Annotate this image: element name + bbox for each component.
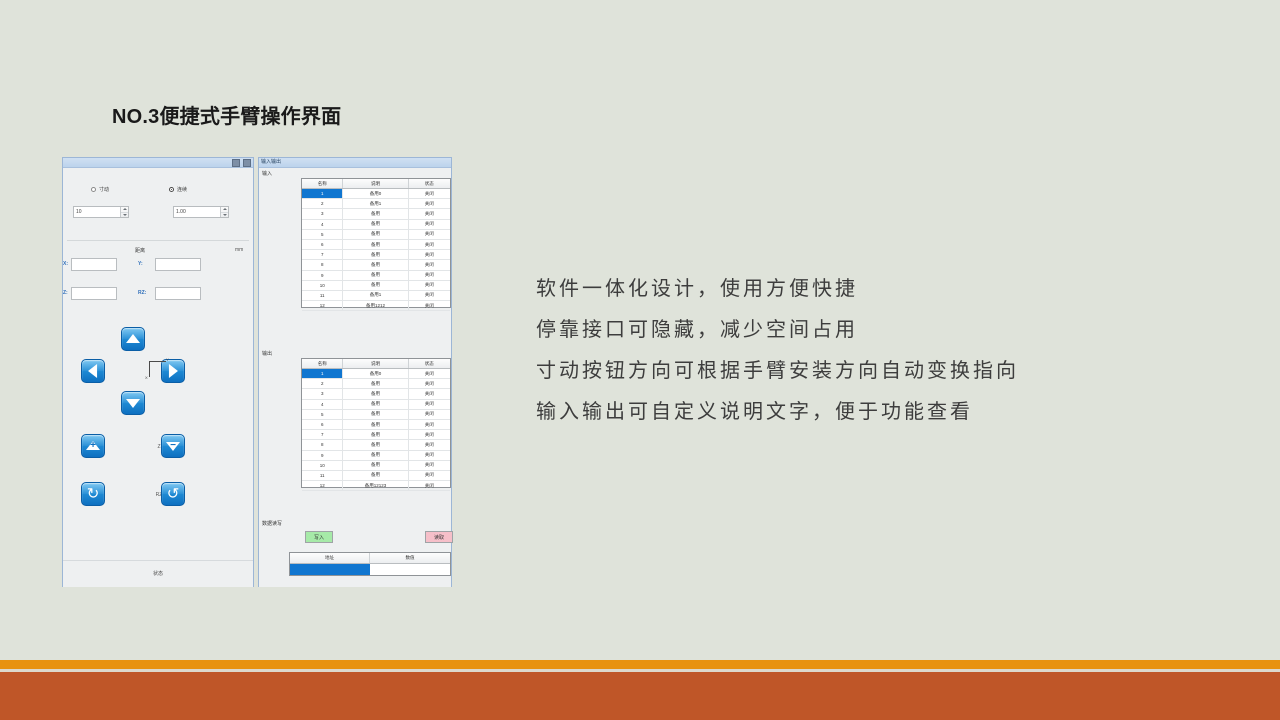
coord-input-rz[interactable] xyxy=(155,287,201,300)
table-cell: 7 xyxy=(302,250,343,259)
column-header: 说明 xyxy=(343,179,408,188)
table-row[interactable]: 7备用关闭 xyxy=(302,430,450,440)
table-cell: 关闭 xyxy=(409,189,450,198)
table-cell: 关闭 xyxy=(409,230,450,239)
io-panel-title: 输入输出 xyxy=(259,158,451,168)
table-cell: 备用 xyxy=(343,400,408,409)
table-cell: 9 xyxy=(302,271,343,280)
table-row[interactable]: 9备用关闭 xyxy=(302,271,450,281)
jog-rz-cw-button[interactable]: ↺ xyxy=(161,482,185,506)
table-cell: 备用 xyxy=(343,220,408,229)
table-cell: 关闭 xyxy=(409,430,450,439)
data-cell-value[interactable] xyxy=(370,564,450,575)
rotate-cw-icon: ↺ xyxy=(167,487,180,502)
app-screenshot: 寸动 连续 10 距离 1.00 xyxy=(62,157,452,587)
distance-label: 距离 xyxy=(135,247,145,254)
jog-z-up-button[interactable]: + xyxy=(81,434,105,458)
jog-left-button[interactable] xyxy=(81,359,105,383)
table-cell: 关闭 xyxy=(409,260,450,269)
description-line: 软件一体化设计，使用方便快捷 xyxy=(536,268,1019,309)
table-row[interactable]: 2备用关闭 xyxy=(302,379,450,389)
description-line: 输入输出可自定义说明文字，便于功能查看 xyxy=(536,391,1019,432)
coord-input-x[interactable] xyxy=(71,258,117,271)
table-cell: 关闭 xyxy=(409,301,450,310)
table-cell: 关闭 xyxy=(409,271,450,280)
jog-up-button[interactable] xyxy=(121,327,145,351)
plus-icon: + xyxy=(90,441,96,451)
input-table[interactable]: 名称说明状态1备用0关闭2备用1关闭3备用关闭4备用关闭5备用关闭6备用关闭7备… xyxy=(301,178,451,308)
table-row[interactable]: 7备用关闭 xyxy=(302,250,450,260)
table-cell: 2 xyxy=(302,199,343,208)
table-cell: 备用 xyxy=(343,209,408,218)
pin-icon[interactable] xyxy=(232,159,240,167)
table-cell: 备用 xyxy=(343,471,408,480)
table-cell: 备用 xyxy=(343,260,408,269)
table-cell: 备用 xyxy=(343,461,408,470)
jog-panel-body: 寸动 连续 10 距离 1.00 xyxy=(63,168,253,587)
table-row[interactable]: 6备用关闭 xyxy=(302,420,450,430)
table-cell: 备用 xyxy=(343,440,408,449)
table-header-row: 名称说明状态 xyxy=(302,179,450,189)
table-cell: 关闭 xyxy=(409,250,450,259)
data-table-header: 地址 数值 xyxy=(290,553,450,564)
input-group-label: 输入 xyxy=(262,170,272,177)
table-cell: 备用1 xyxy=(343,291,408,300)
xy-axis-indicator-icon: Y X xyxy=(145,355,173,383)
table-row[interactable]: 1备用0关闭 xyxy=(302,369,450,379)
table-cell: 关闭 xyxy=(409,420,450,429)
table-row[interactable]: 8备用关闭 xyxy=(302,260,450,270)
speed-stepper[interactable]: 10 xyxy=(73,206,129,218)
table-cell: 关闭 xyxy=(409,451,450,460)
data-group-label: 数据读写 xyxy=(262,520,282,527)
description-line: 停靠接口可隐藏，减少空间占用 xyxy=(536,309,1019,350)
table-cell: 12 xyxy=(302,481,343,490)
table-row[interactable]: 5备用关闭 xyxy=(302,410,450,420)
arrow-down-icon xyxy=(126,399,140,408)
io-panel-window: 输入输出 输入 名称说明状态1备用0关闭2备用1关闭3备用关闭4备用关闭5备用关… xyxy=(258,157,452,587)
jog-rz-ccw-button[interactable]: ↻ xyxy=(81,482,105,506)
write-button[interactable]: 写入 xyxy=(305,531,333,543)
coord-label-z: Z: xyxy=(63,290,68,296)
table-row[interactable]: 6备用关闭 xyxy=(302,240,450,250)
distance-value: 1.00 xyxy=(176,209,186,215)
column-header: 说明 xyxy=(343,359,408,368)
radio-jog-mode[interactable]: 寸动 xyxy=(91,186,109,193)
table-cell: 6 xyxy=(302,240,343,249)
description-line: 寸动按钮方向可根据手臂安装方向自动变换指向 xyxy=(536,350,1019,391)
table-cell: 备用 xyxy=(343,379,408,388)
table-cell: 3 xyxy=(302,389,343,398)
table-cell: 7 xyxy=(302,430,343,439)
stepper-arrows-icon[interactable] xyxy=(220,207,228,217)
table-cell: 关闭 xyxy=(409,199,450,208)
coord-label-rz: RZ: xyxy=(138,290,146,296)
status-bar: 状态 xyxy=(63,560,253,587)
table-cell: 备用 xyxy=(343,451,408,460)
data-header-value: 数值 xyxy=(370,553,450,563)
table-cell: 关闭 xyxy=(409,461,450,470)
output-table[interactable]: 名称说明状态1备用0关闭2备用关闭3备用关闭4备用关闭5备用关闭6备用关闭7备用… xyxy=(301,358,451,488)
rotate-ccw-icon: ↻ xyxy=(87,487,100,502)
parameter-row: 10 距离 1.00 mm xyxy=(63,206,253,219)
table-row[interactable]: 3备用关闭 xyxy=(302,389,450,399)
table-row[interactable]: 11备用1关闭 xyxy=(302,291,450,301)
table-cell: 关闭 xyxy=(409,400,450,409)
table-cell: 8 xyxy=(302,440,343,449)
io-panel-body: 输入 名称说明状态1备用0关闭2备用1关闭3备用关闭4备用关闭5备用关闭6备用关… xyxy=(259,168,451,587)
radio-continuous-label: 连续 xyxy=(177,186,187,193)
table-cell: 1 xyxy=(302,369,343,378)
table-row[interactable]: 2备用1关闭 xyxy=(302,199,450,209)
table-row[interactable]: 5备用关闭 xyxy=(302,230,450,240)
table-row[interactable]: 3备用关闭 xyxy=(302,209,450,219)
table-row[interactable]: 10备用关闭 xyxy=(302,281,450,291)
table-cell: 11 xyxy=(302,471,343,480)
axis-label-y: Y xyxy=(166,357,169,362)
table-cell: 1 xyxy=(302,189,343,198)
coord-label-x: X: xyxy=(63,261,68,267)
jog-panel-titlebar xyxy=(63,158,253,168)
speed-value: 10 xyxy=(76,209,82,215)
table-cell: 备用 xyxy=(343,410,408,419)
table-cell: 4 xyxy=(302,220,343,229)
table-cell: 6 xyxy=(302,420,343,429)
table-cell: 5 xyxy=(302,410,343,419)
table-cell: 关闭 xyxy=(409,369,450,378)
table-cell: 关闭 xyxy=(409,389,450,398)
column-header: 状态 xyxy=(409,179,450,188)
coord-input-y[interactable] xyxy=(155,258,201,271)
table-cell: 备用1212 xyxy=(343,301,408,310)
read-button[interactable]: 读取 xyxy=(425,531,453,543)
table-cell: 关闭 xyxy=(409,220,450,229)
close-icon[interactable] xyxy=(243,159,251,167)
table-cell: 关闭 xyxy=(409,410,450,419)
table-cell: 关闭 xyxy=(409,291,450,300)
jog-panel-window: 寸动 连续 10 距离 1.00 xyxy=(62,157,254,587)
table-cell: 2 xyxy=(302,379,343,388)
arrow-left-icon xyxy=(88,364,97,378)
distance-stepper[interactable]: 1.00 xyxy=(173,206,229,218)
description-block: 软件一体化设计，使用方便快捷 停靠接口可隐藏，减少空间占用 寸动按钮方向可根据手… xyxy=(536,268,1019,432)
table-cell: 关闭 xyxy=(409,209,450,218)
table-row[interactable]: 4备用关闭 xyxy=(302,400,450,410)
table-cell: 备用 xyxy=(343,230,408,239)
table-header-row: 名称说明状态 xyxy=(302,359,450,369)
data-header-address: 地址 xyxy=(290,553,370,563)
table-cell: 备用 xyxy=(343,250,408,259)
accent-bar-orange xyxy=(0,660,1280,669)
table-cell: 备用 xyxy=(343,271,408,280)
table-row[interactable]: 8备用关闭 xyxy=(302,440,450,450)
coord-label-y: Y: xyxy=(138,261,143,267)
table-cell: 5 xyxy=(302,230,343,239)
stepper-arrows-icon[interactable] xyxy=(120,207,128,217)
table-cell: 备用 xyxy=(343,240,408,249)
table-row[interactable]: 4备用关闭 xyxy=(302,220,450,230)
unit-label: mm xyxy=(235,247,243,253)
table-cell: 关闭 xyxy=(409,281,450,290)
jog-down-button[interactable] xyxy=(121,391,145,415)
table-cell: 关闭 xyxy=(409,379,450,388)
mode-radio-group: 寸动 连续 xyxy=(63,186,253,198)
status-text: 状态 xyxy=(153,570,163,577)
radio-dot-icon xyxy=(91,187,96,192)
radio-continuous-mode[interactable]: 连续 xyxy=(169,186,187,193)
table-row[interactable]: 12备用12123关闭 xyxy=(302,481,450,491)
table-cell: 10 xyxy=(302,461,343,470)
rz-axis-row: ↻ RZ ↺ xyxy=(63,478,255,512)
table-cell: 关闭 xyxy=(409,471,450,480)
divider xyxy=(67,240,249,241)
table-cell: 备用 xyxy=(343,281,408,290)
table-cell: 3 xyxy=(302,209,343,218)
table-cell: 12 xyxy=(302,301,343,310)
table-row[interactable]: 1备用0关闭 xyxy=(302,189,450,199)
table-cell: 关闭 xyxy=(409,440,450,449)
radio-dot-icon xyxy=(169,187,174,192)
slide-root: NO.3便捷式手臂操作界面 软件一体化设计，使用方便快捷 停靠接口可隐藏，减少空… xyxy=(0,0,1280,720)
data-table[interactable]: 地址 数值 xyxy=(289,552,451,576)
table-cell: 备用0 xyxy=(343,369,408,378)
table-cell: 备用1 xyxy=(343,199,408,208)
table-cell: 备用 xyxy=(343,430,408,439)
coord-input-z[interactable] xyxy=(71,287,117,300)
column-header: 名称 xyxy=(302,359,343,368)
table-cell: 8 xyxy=(302,260,343,269)
table-cell: 备用 xyxy=(343,420,408,429)
radio-jog-label: 寸动 xyxy=(99,186,109,193)
table-cell: 备用0 xyxy=(343,189,408,198)
table-cell: 关闭 xyxy=(409,481,450,490)
table-row[interactable]: 12备用1212关闭 xyxy=(302,301,450,311)
axis-label-x: X xyxy=(145,375,148,380)
z-axis-row: + Z − xyxy=(63,430,255,464)
accent-bar-terracotta xyxy=(0,672,1280,720)
column-header: 名称 xyxy=(302,179,343,188)
table-cell: 备用12123 xyxy=(343,481,408,490)
output-group-label: 输出 xyxy=(262,350,272,357)
table-row[interactable]: 10备用关闭 xyxy=(302,461,450,471)
table-cell: 9 xyxy=(302,451,343,460)
table-cell: 11 xyxy=(302,291,343,300)
table-cell: 关闭 xyxy=(409,240,450,249)
jog-z-down-button[interactable]: − xyxy=(161,434,185,458)
table-cell: 备用 xyxy=(343,389,408,398)
table-row[interactable]: 11备用关闭 xyxy=(302,471,450,481)
table-cell: 4 xyxy=(302,400,343,409)
arrow-up-icon xyxy=(126,334,140,343)
data-table-row[interactable] xyxy=(290,564,450,575)
table-cell: 10 xyxy=(302,281,343,290)
column-header: 状态 xyxy=(409,359,450,368)
data-cell-address[interactable] xyxy=(290,564,370,575)
page-title: NO.3便捷式手臂操作界面 xyxy=(112,100,341,129)
table-row[interactable]: 9备用关闭 xyxy=(302,451,450,461)
jog-direction-pad: Y X xyxy=(63,323,255,423)
